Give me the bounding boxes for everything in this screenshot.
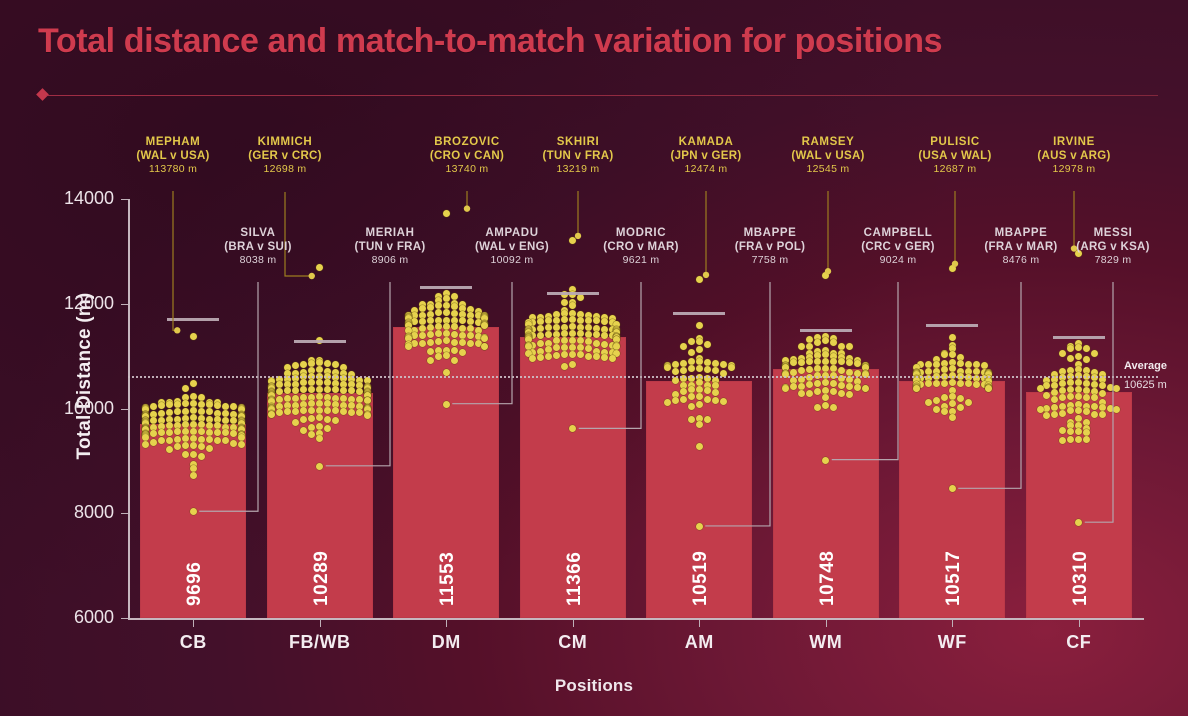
callout-leader-lines: [0, 0, 1188, 716]
callout-player-name: IRVINE: [994, 135, 1154, 149]
leader-endpoint-dot: [703, 272, 709, 278]
callout-match: (GER v CRC): [205, 149, 365, 163]
callout-value: 12978 m: [994, 163, 1154, 176]
callout-min-messi-7: MESSI(ARG v KSA)7829 m: [1033, 226, 1188, 267]
leader-line: [958, 282, 1021, 488]
leader-line: [705, 282, 770, 526]
leader-line: [199, 282, 258, 511]
leader-endpoint-dot: [174, 327, 180, 333]
leader-endpoint-dot: [464, 205, 470, 211]
leader-endpoint-dot: [309, 273, 315, 279]
callout-value: 12698 m: [205, 163, 365, 176]
callout-player-name: KIMMICH: [205, 135, 365, 149]
leader-line: [452, 282, 512, 404]
callout-player-name: MESSI: [1033, 226, 1188, 240]
leader-line: [579, 282, 641, 428]
leader-line: [326, 282, 390, 466]
plot-area: Total Distance (m) Positions 14000120001…: [0, 0, 1188, 716]
callout-match: (AUS v ARG): [994, 149, 1154, 163]
callout-max-irvine: IRVINE(AUS v ARG)12978 m: [994, 135, 1154, 176]
chart-root: Total distance and match-to-match variat…: [0, 0, 1188, 716]
leader-line: [173, 191, 177, 330]
leader-endpoint-dot: [825, 268, 831, 274]
callout-value: 7829 m: [1033, 254, 1188, 267]
leader-line: [832, 282, 898, 460]
callout-match: (ARG v KSA): [1033, 240, 1188, 254]
leader-line: [1085, 282, 1113, 522]
callout-max-kimmich: KIMMICH(GER v CRC)12698 m: [205, 135, 365, 176]
